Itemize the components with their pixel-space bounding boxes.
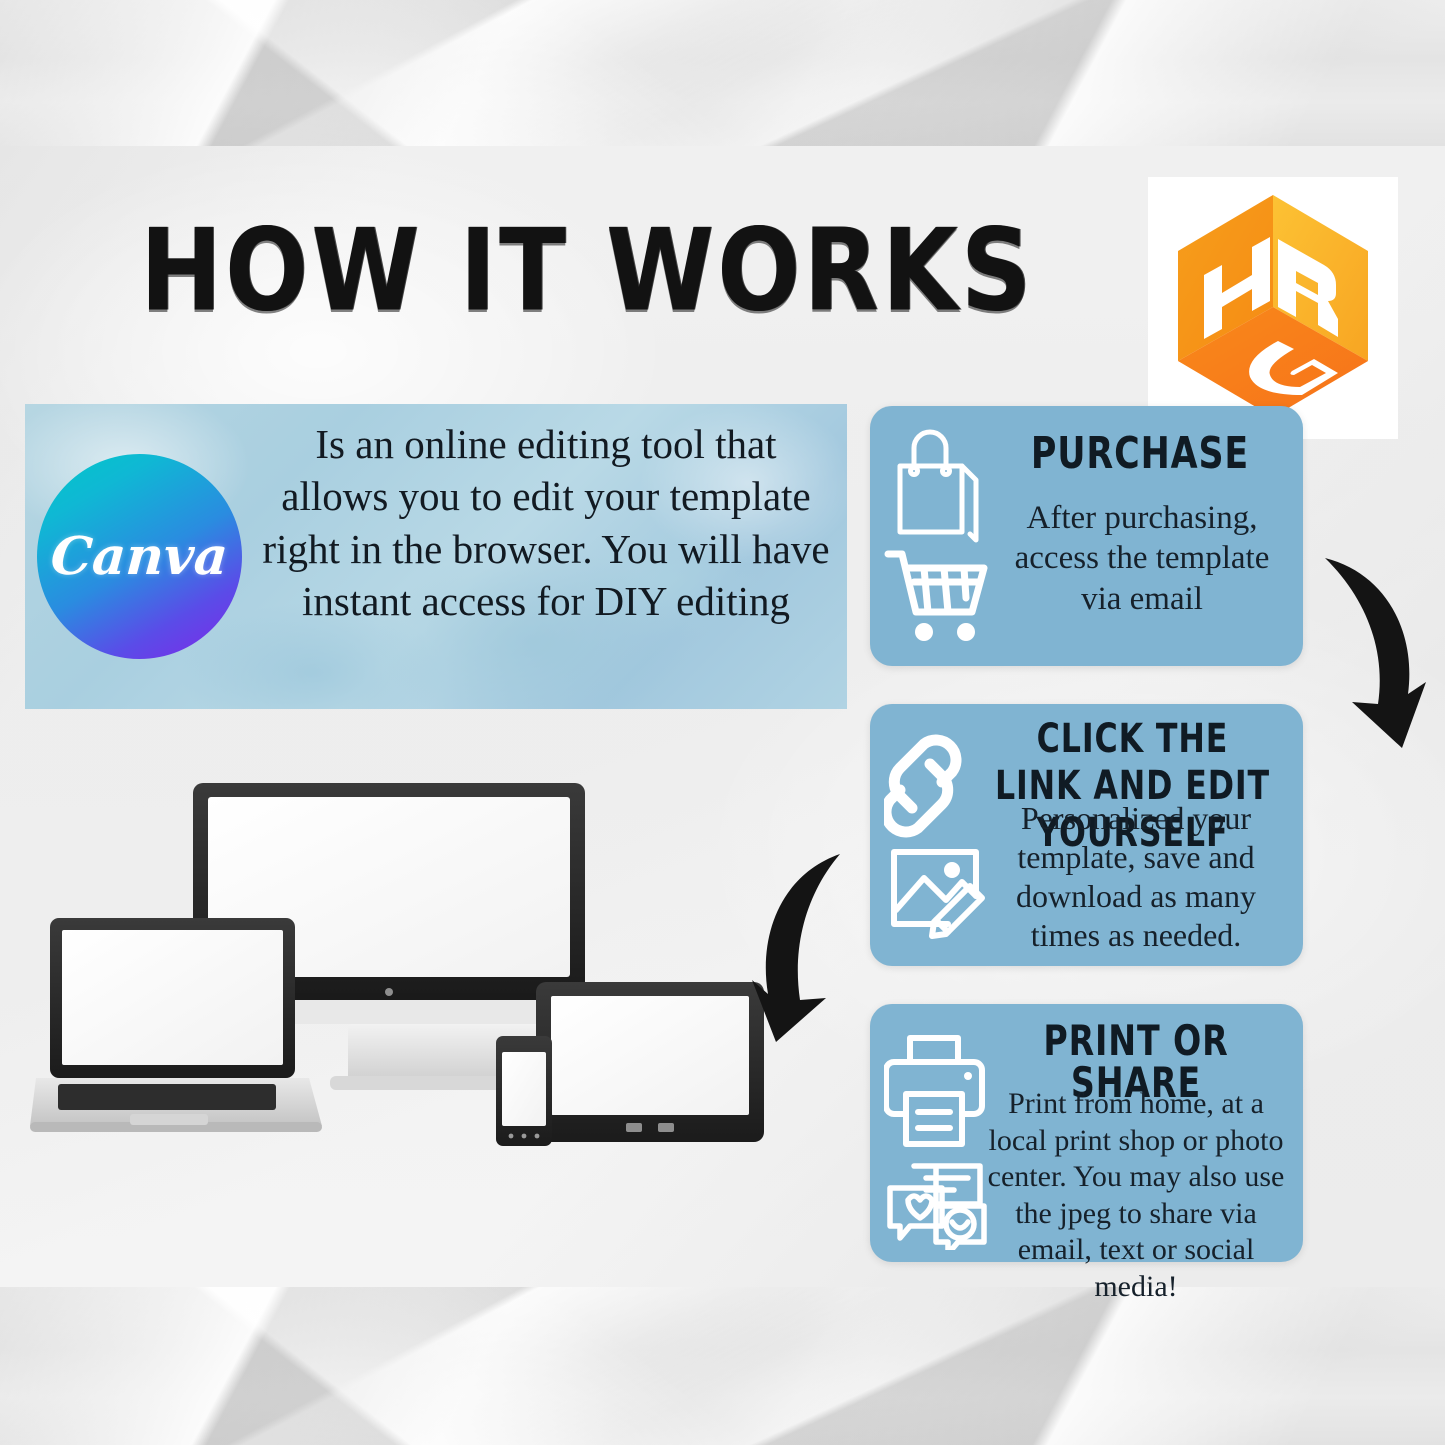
step-card-print-share[interactable]: PRINT OR SHARE Print from home, at a loc… [870,1004,1303,1262]
step-card-body: Print from home, at a local print shop o… [976,1086,1296,1306]
step-card-body: Personalized your template, save and dow… [980,799,1292,955]
step-card-click-edit[interactable]: CLICK THE LINK AND EDIT YOURSELF Persona… [870,704,1303,966]
chain-link-icon [886,740,956,832]
device-laptop [30,918,322,1132]
infographic-canvas: HOW IT WORKS [0,0,1445,1445]
canva-logo-icon: Canva [37,454,242,659]
canva-description: Is an online editing tool that allows yo… [257,418,835,628]
arrow-step2-to-step3-icon [752,846,888,1051]
device-tablet [536,982,764,1142]
purchase-icons [884,422,988,652]
social-chat-icon [890,1166,984,1250]
page-title: HOW IT WORKS [140,214,885,327]
shopping-cart-icon [888,554,984,641]
paper-texture-top-border [0,0,1445,146]
image-edit-icon [894,852,982,936]
canva-info-panel: Canva Is an online editing tool that all… [25,404,847,709]
arrow-step1-to-step2-icon [1292,542,1442,762]
devices-mockup-image [30,770,770,1170]
click-edit-icons [884,720,988,950]
paper-texture-bottom-border [0,1287,1445,1445]
step-card-purchase[interactable]: PURCHASE After purchasing, access the te… [870,406,1303,666]
shopping-bag-icon [900,432,976,540]
brand-logo [1148,177,1398,439]
step-card-title: PURCHASE [1008,432,1272,476]
print-share-icons [884,1020,988,1250]
device-smartphone [496,1036,552,1146]
step-card-body: After purchasing, access the template vi… [992,498,1292,619]
printer-icon [886,1038,982,1144]
canva-wordmark: Canva [49,526,230,587]
hrg-cube-icon [1166,189,1380,425]
